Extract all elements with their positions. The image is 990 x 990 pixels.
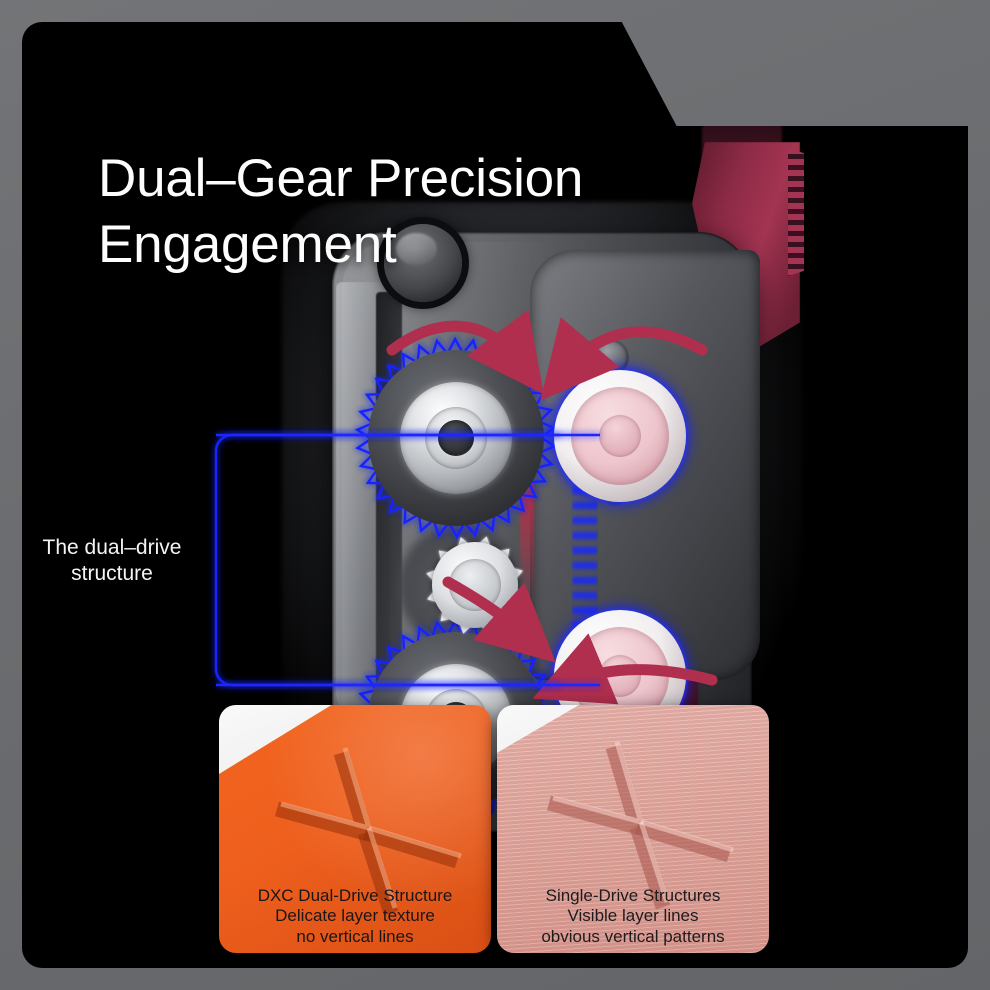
arrow-top-right bbox=[568, 332, 702, 368]
dual-drive-sample-photo: DXC Dual-Drive Structure Delicate layer … bbox=[219, 705, 491, 953]
page-title: Dual–Gear Precision Engagement bbox=[98, 146, 738, 277]
comparison-inset-right[interactable]: Single-Drive Structures Visible layer li… bbox=[497, 705, 769, 953]
callout-label: The dual–drive structure bbox=[22, 535, 212, 588]
brand-logo: Phaetus® bbox=[757, 42, 930, 96]
comparison-caption-left: DXC Dual-Drive Structure Delicate layer … bbox=[219, 886, 491, 947]
arrow-idler bbox=[448, 582, 524, 634]
brand-logo-text: Phaetus bbox=[757, 43, 919, 95]
arrow-top-left bbox=[392, 326, 518, 360]
comparison-caption-right: Single-Drive Structures Visible layer li… bbox=[497, 886, 769, 947]
black-panel: Phaetus® Dual–Gear Precision Engagement … bbox=[22, 22, 968, 968]
poster-canvas: Phaetus® Dual–Gear Precision Engagement … bbox=[0, 0, 990, 990]
comparison-inset-left[interactable]: DXC Dual-Drive Structure Delicate layer … bbox=[219, 705, 491, 953]
trademark-icon: ® bbox=[919, 56, 930, 73]
single-drive-sample-photo: Single-Drive Structures Visible layer li… bbox=[497, 705, 769, 953]
arrow-bottom-right bbox=[572, 670, 712, 682]
